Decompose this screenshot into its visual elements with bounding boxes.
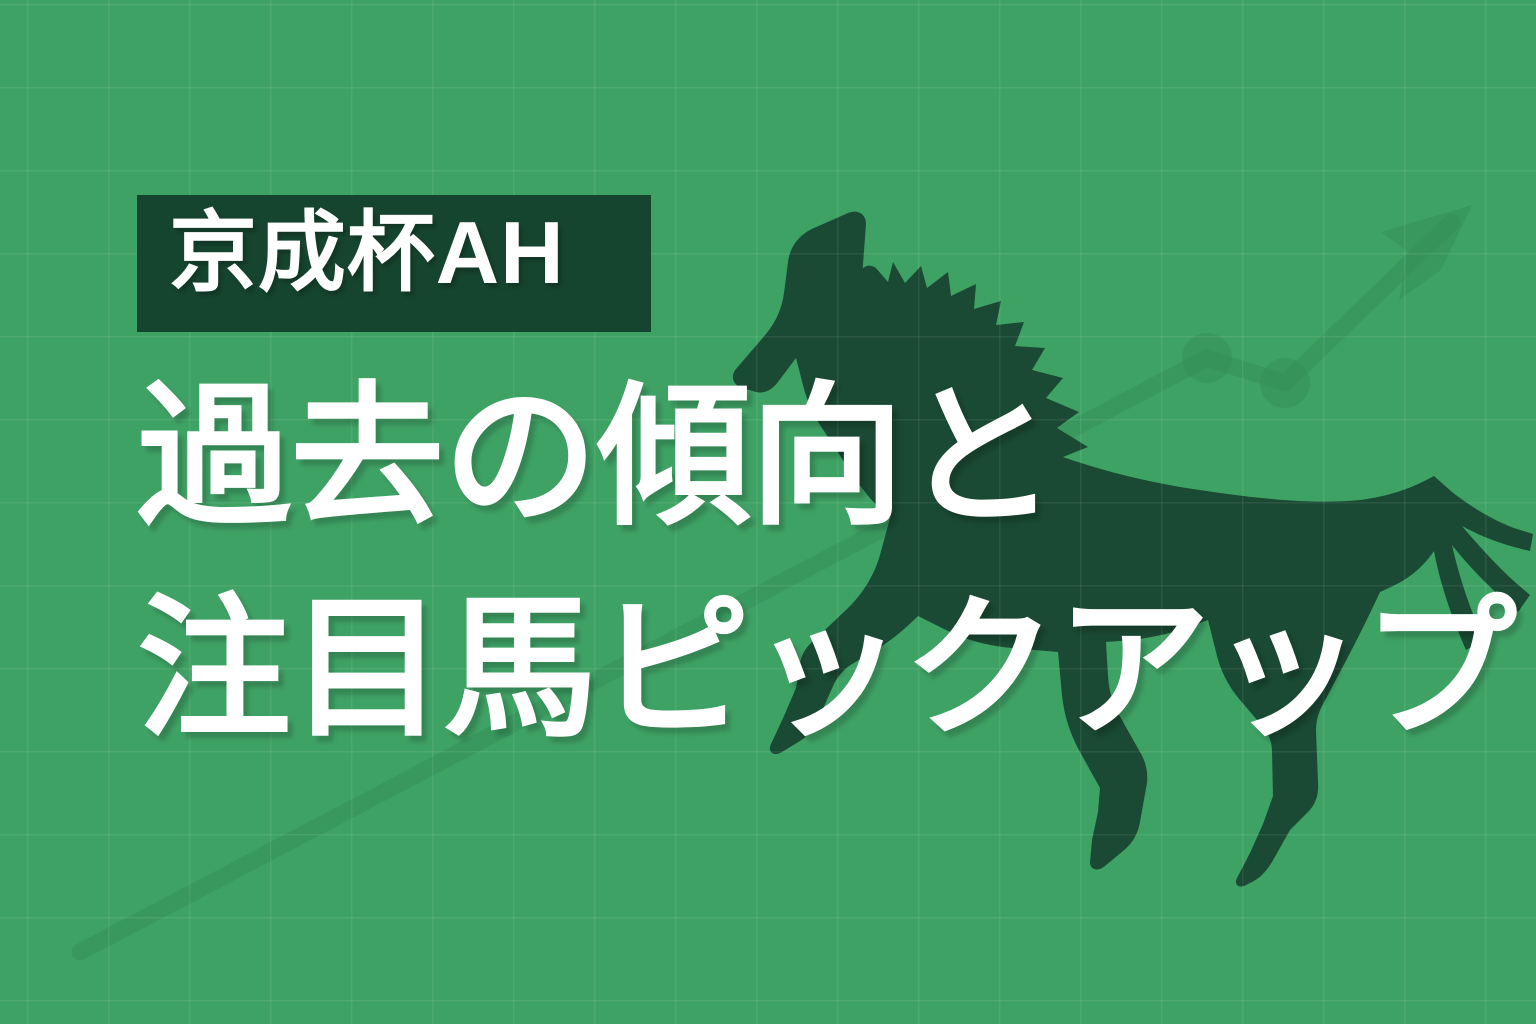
headline-line-1: 過去の傾向と: [137, 380, 1516, 534]
banner-text-block: 京成杯AH 過去の傾向と 注目馬ピックアップ: [137, 195, 1516, 746]
headline-line-2: 注目馬ピックアップ: [137, 592, 1516, 746]
banner-canvas: 京成杯AH 過去の傾向と 注目馬ピックアップ: [0, 0, 1536, 1024]
race-name-badge: 京成杯AH: [137, 195, 651, 332]
